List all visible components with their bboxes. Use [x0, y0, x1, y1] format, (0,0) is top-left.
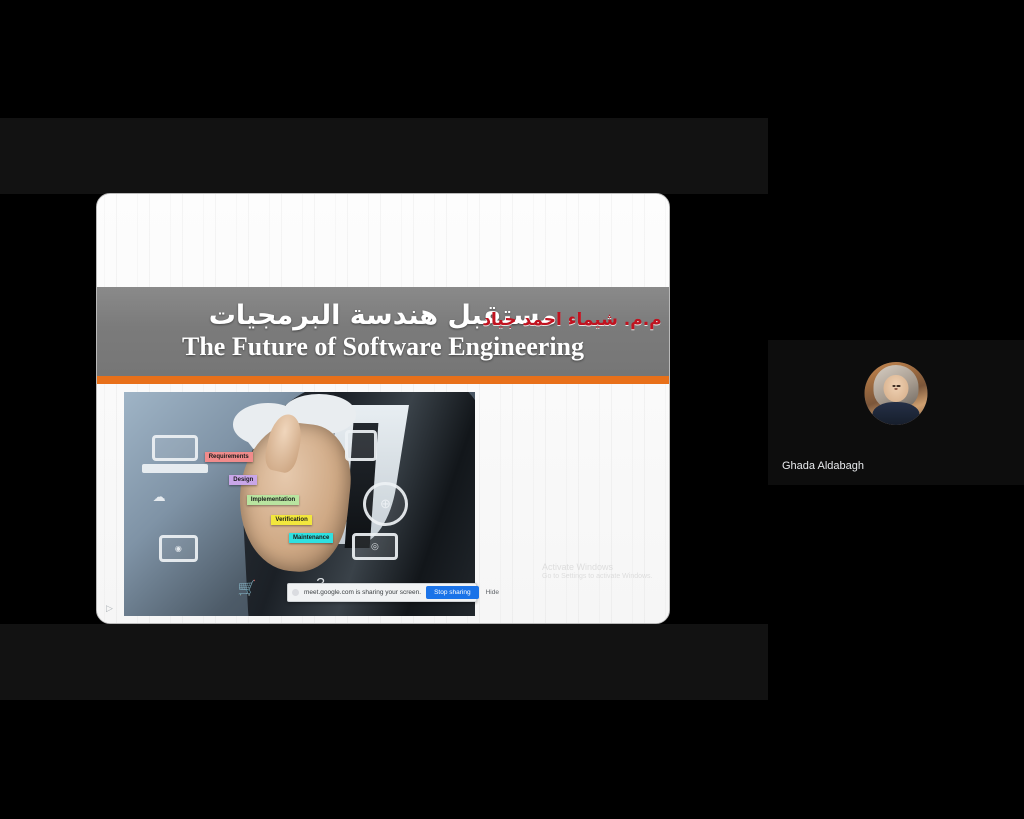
slide-accent-rule — [97, 376, 669, 384]
triangle-right-icon[interactable]: ▷ — [106, 603, 116, 613]
windows-activation-watermark: Activate Windows Go to Settings to activ… — [542, 562, 653, 582]
meeting-screen: مستقبل هندسة البرمجيات The Future of Sof… — [0, 0, 1024, 819]
presenter-name: م.م. شيماء احمد جياد — [477, 310, 667, 330]
people-group-icon: ☁ — [131, 484, 187, 511]
meeting-canvas-top-band — [0, 118, 768, 194]
avatar-torso — [872, 402, 920, 425]
slide-title-english: The Future of Software Engineering — [182, 332, 584, 362]
camera-icon: ◎ — [352, 533, 398, 560]
slide-title-banner: مستقبل هندسة البرمجيات The Future of Sof… — [97, 287, 669, 376]
slide-top-whitespace — [97, 194, 669, 287]
avatar-eye-left — [892, 385, 896, 386]
lifecycle-label-implementation: Implementation — [247, 495, 299, 505]
share-message: meet.google.com is sharing your screen. — [304, 589, 421, 596]
hide-button[interactable]: Hide — [484, 589, 499, 596]
share-indicator-icon — [292, 589, 299, 596]
activation-subtitle: Go to Settings to activate Windows. — [542, 573, 653, 582]
meeting-canvas-bottom-band — [0, 624, 768, 700]
avatar-eye-right — [897, 385, 901, 386]
participant-name: Ghada Aldabagh — [782, 460, 864, 472]
tablet-icon — [345, 430, 377, 461]
lifecycle-label-design: Design — [229, 475, 257, 485]
stop-sharing-button[interactable]: Stop sharing — [426, 586, 479, 599]
lifecycle-label-verification: Verification — [271, 515, 311, 525]
shopping-cart-icon: 🛒 — [222, 573, 271, 602]
lifecycle-label-maintenance: Maintenance — [289, 533, 333, 543]
music-player-icon: ◉ — [159, 535, 198, 562]
laptop-base-icon — [142, 464, 209, 473]
screen-share-notification-bar[interactable]: meet.google.com is sharing your screen. … — [287, 583, 477, 602]
laptop-icon — [152, 435, 198, 462]
shared-screen-slide[interactable]: مستقبل هندسة البرمجيات The Future of Sof… — [96, 193, 670, 624]
lifecycle-label-requirements: Requirements — [205, 452, 253, 462]
participant-tile[interactable]: Ghada Aldabagh — [768, 340, 1024, 485]
avatar-mouth — [894, 388, 897, 389]
avatar — [865, 362, 928, 425]
activation-title: Activate Windows — [542, 562, 653, 573]
